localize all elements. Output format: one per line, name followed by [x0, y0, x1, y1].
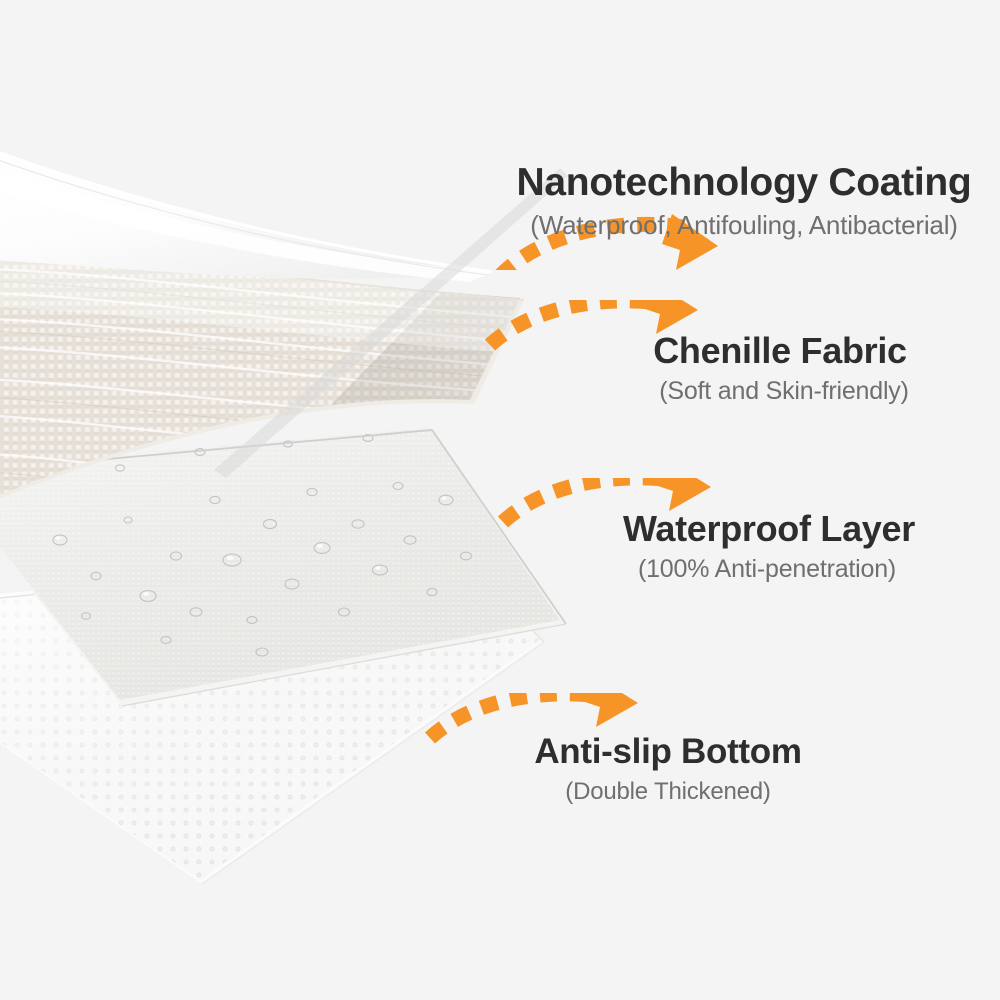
callout-subtitle: (100% Anti-penetration) [267, 556, 1000, 584]
callout-title: Anti-slip Bottom [168, 733, 1000, 770]
callout-chenille-fabric: Chenille Fabric (Soft and Skin-friendly) [0, 300, 1000, 440]
callout-title: Nanotechnology Coating [244, 162, 1000, 203]
callout-subtitle: (Waterproof, Antifouling, Antibacterial) [244, 211, 1000, 240]
callout-nanotechnology-coating: Nanotechnology Coating (Waterproof, Anti… [0, 120, 1000, 270]
callout-subtitle: (Soft and Skin-friendly) [284, 378, 1000, 406]
callout-title: Chenille Fabric [280, 332, 1000, 370]
infographic-canvas: Nanotechnology Coating (Waterproof, Anti… [0, 0, 1000, 1000]
callout-anti-slip-bottom: Anti-slip Bottom (Double Thickened) [0, 693, 1000, 833]
callout-subtitle: (Double Thickened) [168, 779, 1000, 805]
callout-waterproof-layer: Waterproof Layer (100% Anti-penetration) [0, 478, 1000, 618]
callout-title: Waterproof Layer [269, 510, 1000, 548]
